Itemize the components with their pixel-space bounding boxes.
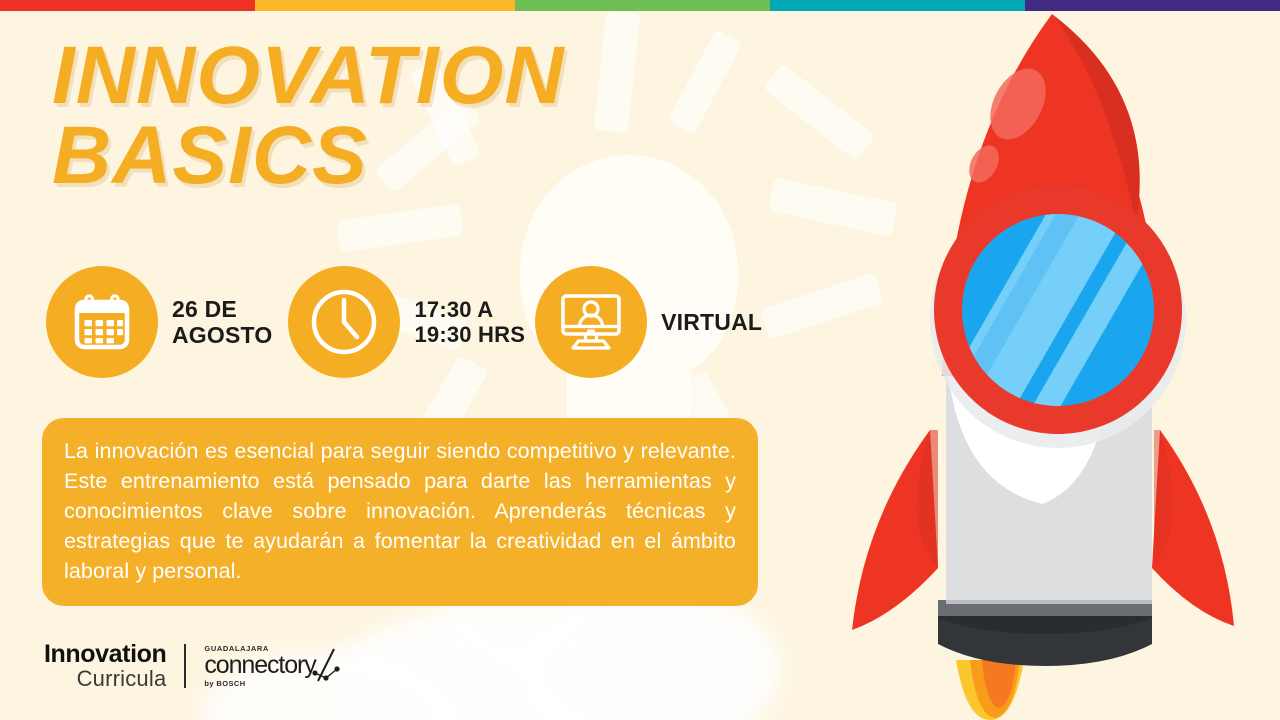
- topbar-segment-teal: [770, 0, 1025, 11]
- time-icon-badge: [288, 266, 400, 378]
- event-info-row: 26 DE AGOSTO 17:30 A 19:30 HRS: [46, 266, 762, 378]
- info-item-time: 17:30 A 19:30 HRS: [288, 266, 525, 378]
- date-icon-badge: [46, 266, 158, 378]
- connectory-node-mark: [312, 647, 342, 687]
- topbar-segment-green: [515, 0, 770, 11]
- logo-guadalajara-connectory: GUADALAJARA connectory by BOSCH: [204, 645, 315, 688]
- top-color-bar: [0, 0, 1280, 11]
- logo-connectory-by: by BOSCH: [204, 680, 315, 688]
- light-ray: [667, 29, 742, 135]
- topbar-segment-red: [0, 0, 255, 11]
- clock-icon: [306, 284, 382, 360]
- rocket-fin-left: [852, 430, 938, 630]
- title-line-2: BASICS: [52, 116, 565, 196]
- logo-innovation-curricula: Innovation Curricula: [44, 642, 166, 690]
- page-title: INNOVATION BASICS: [52, 36, 565, 195]
- rocket-flame: [956, 660, 1024, 720]
- logo-connectory-name: connectory: [204, 653, 315, 678]
- footer-logos: Innovation Curricula GUADALAJARA connect…: [44, 640, 316, 692]
- logo-innovation-line2: Curricula: [44, 668, 166, 690]
- poster-canvas: INNOVATION BASICS: [0, 0, 1280, 720]
- logo-divider: [184, 644, 186, 688]
- light-ray: [594, 11, 640, 134]
- description-text: La innovación es esencial para seguir si…: [64, 436, 736, 586]
- info-item-date: 26 DE AGOSTO: [46, 266, 272, 378]
- modality-icon-badge: [535, 266, 647, 378]
- rocket-launch-illustration: [760, 0, 1280, 720]
- time-label: 17:30 A 19:30 HRS: [414, 297, 525, 348]
- date-label: 26 DE AGOSTO: [172, 296, 272, 349]
- logo-innovation-line1: Innovation: [44, 642, 166, 667]
- calendar-icon: [71, 291, 133, 353]
- title-line-1: INNOVATION: [52, 36, 565, 116]
- webinar-monitor-icon: [558, 291, 624, 353]
- light-ray: [336, 204, 463, 253]
- info-item-modality: VIRTUAL: [535, 266, 762, 378]
- topbar-segment-purple: [1025, 0, 1280, 11]
- topbar-segment-orange: [255, 0, 515, 11]
- modality-label: VIRTUAL: [661, 309, 762, 335]
- rocket-fin-right: [1152, 430, 1234, 626]
- description-card: La innovación es esencial para seguir si…: [42, 418, 758, 606]
